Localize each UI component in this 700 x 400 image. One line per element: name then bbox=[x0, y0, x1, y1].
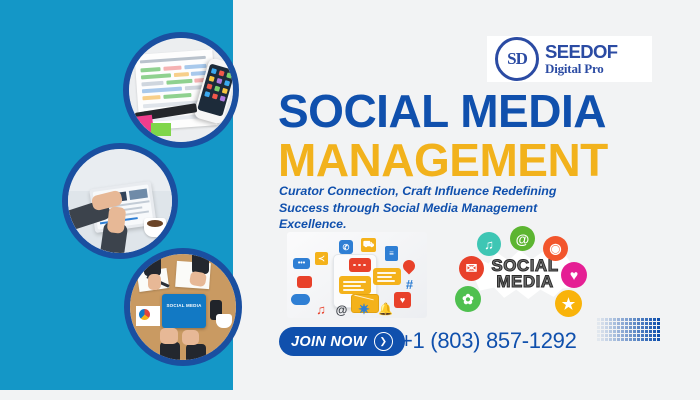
heart-box-icon: ♥ bbox=[394, 292, 411, 308]
at-sign-icon: @ bbox=[510, 226, 535, 251]
grid-dot bbox=[633, 334, 636, 337]
grid-dot bbox=[597, 338, 600, 341]
photo-tablet-hands bbox=[62, 143, 178, 259]
grid-dot bbox=[617, 318, 620, 321]
grid-dot bbox=[633, 330, 636, 333]
grid-dot bbox=[605, 322, 608, 325]
grid-dot bbox=[625, 318, 628, 321]
grid-dot bbox=[649, 334, 652, 337]
grid-dot bbox=[625, 338, 628, 341]
grid-dot bbox=[613, 326, 616, 329]
photo-planner-phone bbox=[123, 32, 239, 148]
grid-dot bbox=[653, 322, 656, 325]
envelope-icon: ✉ bbox=[459, 256, 484, 281]
grid-dot bbox=[629, 338, 632, 341]
grid-dot bbox=[601, 334, 604, 337]
grid-dot bbox=[657, 334, 660, 337]
grid-dot bbox=[641, 322, 644, 325]
grid-dot bbox=[609, 334, 612, 337]
chat-dots-icon: ••• bbox=[293, 258, 310, 269]
cart-icon: ⛟ bbox=[361, 238, 376, 252]
grid-dot bbox=[621, 318, 624, 321]
grid-dot bbox=[657, 326, 660, 329]
join-now-label: JOIN NOW bbox=[291, 334, 367, 350]
grid-dot bbox=[617, 330, 620, 333]
grid-dot bbox=[605, 326, 608, 329]
grid-dot bbox=[613, 318, 616, 321]
grid-dot bbox=[641, 326, 644, 329]
grid-dot bbox=[657, 322, 660, 325]
grid-dot bbox=[609, 322, 612, 325]
grid-dot bbox=[637, 326, 640, 329]
grid-dot bbox=[645, 318, 648, 321]
grid-dot bbox=[601, 322, 604, 325]
grid-dot bbox=[637, 322, 640, 325]
grid-dot bbox=[653, 334, 656, 337]
grid-dot bbox=[637, 318, 640, 321]
share-icon: ≺ bbox=[315, 252, 328, 265]
contact-phone-number[interactable]: +1 (803) 857-1292 bbox=[400, 328, 577, 354]
social-icon-cluster: ♫@◉✉♥✿★ bbox=[455, 226, 600, 321]
chat-bubble-yellow-right bbox=[373, 268, 401, 285]
grid-dot bbox=[621, 322, 624, 325]
grid-dot bbox=[657, 330, 660, 333]
grid-dot bbox=[653, 326, 656, 329]
grid-dot bbox=[625, 326, 628, 329]
gear-icon: ✷ bbox=[357, 302, 371, 316]
grid-dot bbox=[633, 326, 636, 329]
photo-team-meeting: SOCIAL MEDIA bbox=[124, 248, 242, 366]
grid-dot bbox=[621, 326, 624, 329]
grid-dot bbox=[637, 338, 640, 341]
grid-dot bbox=[653, 318, 656, 321]
grid-dot bbox=[601, 330, 604, 333]
logo-monogram-icon: SD bbox=[495, 37, 539, 81]
grid-dot bbox=[645, 330, 648, 333]
headline-line-2: MANAGEMENT bbox=[278, 136, 678, 184]
grid-dot bbox=[609, 330, 612, 333]
hashtag-icon: # bbox=[403, 278, 416, 291]
tablet-screen-label: SOCIAL MEDIA bbox=[162, 303, 206, 308]
grid-dot bbox=[617, 322, 620, 325]
grid-dot bbox=[649, 338, 652, 341]
grid-dot bbox=[649, 330, 652, 333]
headline-line-1: SOCIAL MEDIA bbox=[278, 88, 678, 134]
grid-dot bbox=[641, 338, 644, 341]
grid-dot bbox=[617, 334, 620, 337]
social-media-illustration: ••• ≺ ✆ ⛟ ≡ # ♥ ♫ @ ✷ 🔔 bbox=[287, 232, 427, 318]
bell-icon: 🔔 bbox=[379, 302, 392, 316]
grid-dot bbox=[597, 326, 600, 329]
grid-dot bbox=[657, 338, 660, 341]
grid-dot bbox=[613, 334, 616, 337]
grid-dot bbox=[633, 338, 636, 341]
grid-dot bbox=[613, 330, 616, 333]
grid-dot bbox=[633, 318, 636, 321]
chat-bubble-yellow-large bbox=[339, 276, 371, 294]
grid-dot bbox=[597, 330, 600, 333]
grid-dot bbox=[605, 338, 608, 341]
location-pin-icon bbox=[401, 258, 418, 275]
grid-dot bbox=[597, 318, 600, 321]
grid-dot bbox=[641, 318, 644, 321]
grid-dot bbox=[609, 338, 612, 341]
grid-dot bbox=[625, 322, 628, 325]
social-media-management-banner: SOCIAL MEDIA SD SEEDOF Digital Pro SOCIA… bbox=[0, 0, 700, 400]
grid-dot bbox=[653, 338, 656, 341]
at-icon: @ bbox=[335, 303, 348, 316]
grid-dot bbox=[653, 330, 656, 333]
join-now-button[interactable]: JOIN NOW ❯ bbox=[279, 327, 405, 356]
grid-dot bbox=[617, 326, 620, 329]
grid-dot bbox=[601, 326, 604, 329]
grid-dot bbox=[601, 318, 604, 321]
grid-dot bbox=[629, 322, 632, 325]
grid-dot bbox=[605, 334, 608, 337]
grid-dot bbox=[613, 338, 616, 341]
grid-dot bbox=[605, 318, 608, 321]
brand-tagline: Digital Pro bbox=[545, 62, 617, 75]
logo-monogram-text: SD bbox=[507, 49, 527, 69]
brand-name: SEEDOF bbox=[545, 43, 617, 62]
star-icon: ★ bbox=[555, 290, 582, 317]
grid-dot bbox=[625, 330, 628, 333]
grid-dot bbox=[649, 322, 652, 325]
brand-logo: SD SEEDOF Digital Pro bbox=[487, 36, 652, 82]
grid-dot bbox=[609, 326, 612, 329]
gift-icon: ✿ bbox=[455, 286, 481, 312]
grid-dot bbox=[637, 334, 640, 337]
grid-dot bbox=[649, 326, 652, 329]
grid-dot bbox=[609, 318, 612, 321]
grid-dot bbox=[641, 334, 644, 337]
chat-small-icon bbox=[297, 276, 312, 288]
grid-dot bbox=[605, 330, 608, 333]
document-icon: ≡ bbox=[385, 246, 398, 261]
grid-dot bbox=[617, 338, 620, 341]
music-note-icon: ♫ bbox=[477, 232, 501, 256]
grid-dot bbox=[657, 318, 660, 321]
page-title: SOCIAL MEDIA MANAGEMENT bbox=[278, 88, 678, 184]
phone-call-icon: ✆ bbox=[339, 240, 353, 254]
dot-grid-decoration bbox=[597, 318, 661, 342]
grid-dot bbox=[621, 334, 624, 337]
grid-dot bbox=[645, 334, 648, 337]
grid-dot bbox=[637, 330, 640, 333]
grid-dot bbox=[629, 334, 632, 337]
chat-bubble-red bbox=[349, 258, 371, 272]
grid-dot bbox=[645, 338, 648, 341]
camera-icon: ◉ bbox=[543, 236, 568, 261]
grid-dot bbox=[629, 326, 632, 329]
grid-dot bbox=[629, 330, 632, 333]
grid-dot bbox=[633, 322, 636, 325]
heart-icon: ♥ bbox=[561, 262, 587, 288]
grid-dot bbox=[649, 318, 652, 321]
grid-dot bbox=[621, 338, 624, 341]
grid-dot bbox=[629, 318, 632, 321]
grid-dot bbox=[641, 330, 644, 333]
grid-dot bbox=[597, 334, 600, 337]
grid-dot bbox=[613, 322, 616, 325]
grid-dot bbox=[597, 322, 600, 325]
cloud-icon bbox=[291, 294, 310, 305]
arrow-right-icon: ❯ bbox=[374, 332, 393, 351]
grid-dot bbox=[625, 334, 628, 337]
grid-dot bbox=[645, 326, 648, 329]
grid-dot bbox=[645, 322, 648, 325]
grid-dot bbox=[601, 338, 604, 341]
music-icon: ♫ bbox=[315, 302, 327, 316]
grid-dot bbox=[621, 330, 624, 333]
